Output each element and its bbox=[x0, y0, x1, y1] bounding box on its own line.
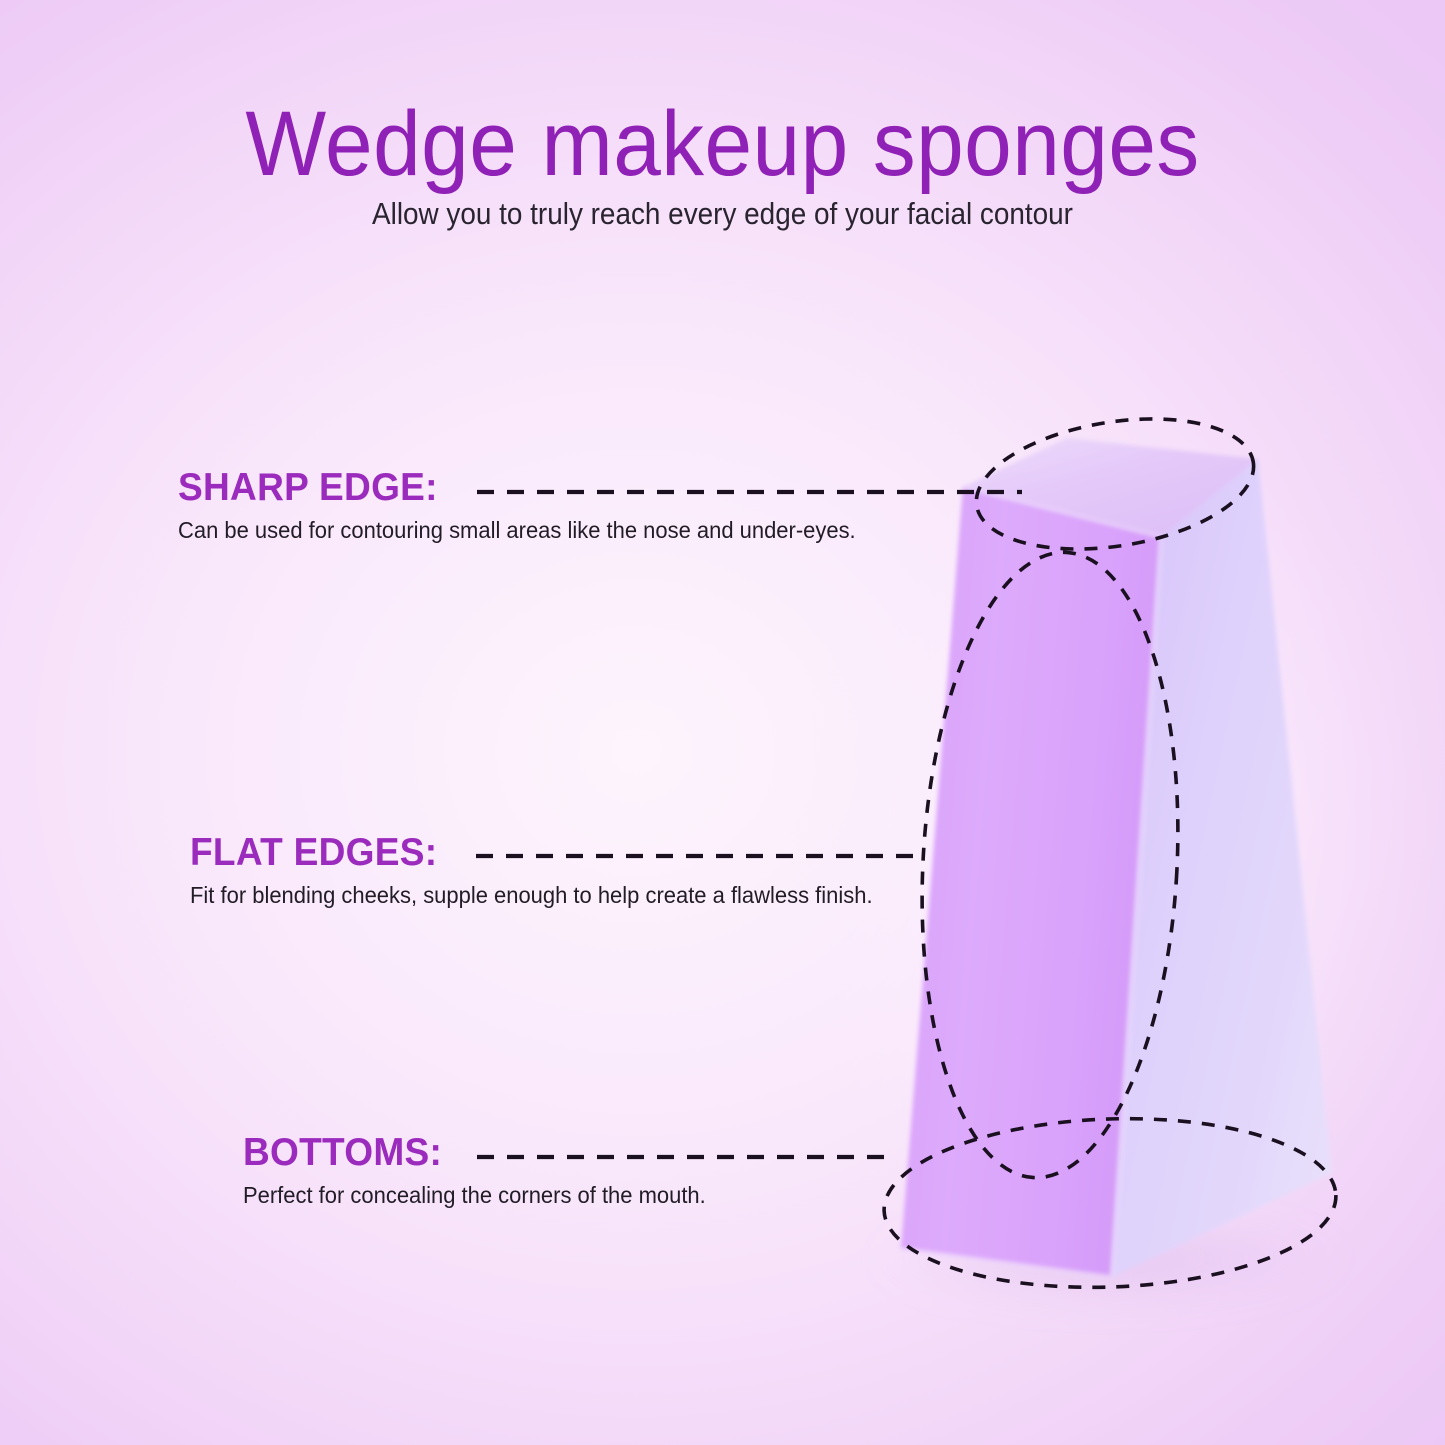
callout-flat-edges: FLAT EDGES: Fit for blending cheeks, sup… bbox=[190, 831, 905, 910]
callout-sharp-edge: SHARP EDGE: Can be used for contouring s… bbox=[178, 466, 888, 545]
callout-bottoms-heading: BOTTOMS: bbox=[243, 1131, 703, 1175]
callout-bottoms: BOTTOMS: Perfect for concealing the corn… bbox=[243, 1131, 728, 1210]
callout-sharp-edge-description: Can be used for contouring small areas l… bbox=[178, 515, 856, 545]
callout-flat-edges-heading: FLAT EDGES: bbox=[190, 831, 869, 875]
wedge-sponge-image bbox=[0, 0, 1445, 1445]
callout-flat-edges-description: Fit for blending cheeks, supple enough t… bbox=[190, 880, 873, 910]
callout-bottoms-description: Perfect for concealing the corners of th… bbox=[243, 1180, 706, 1210]
callout-sharp-edge-heading: SHARP EDGE: bbox=[178, 466, 852, 510]
sponge-body bbox=[901, 438, 1332, 1277]
product-infographic-poster: Wedge makeup sponges Allow you to truly … bbox=[0, 0, 1445, 1445]
